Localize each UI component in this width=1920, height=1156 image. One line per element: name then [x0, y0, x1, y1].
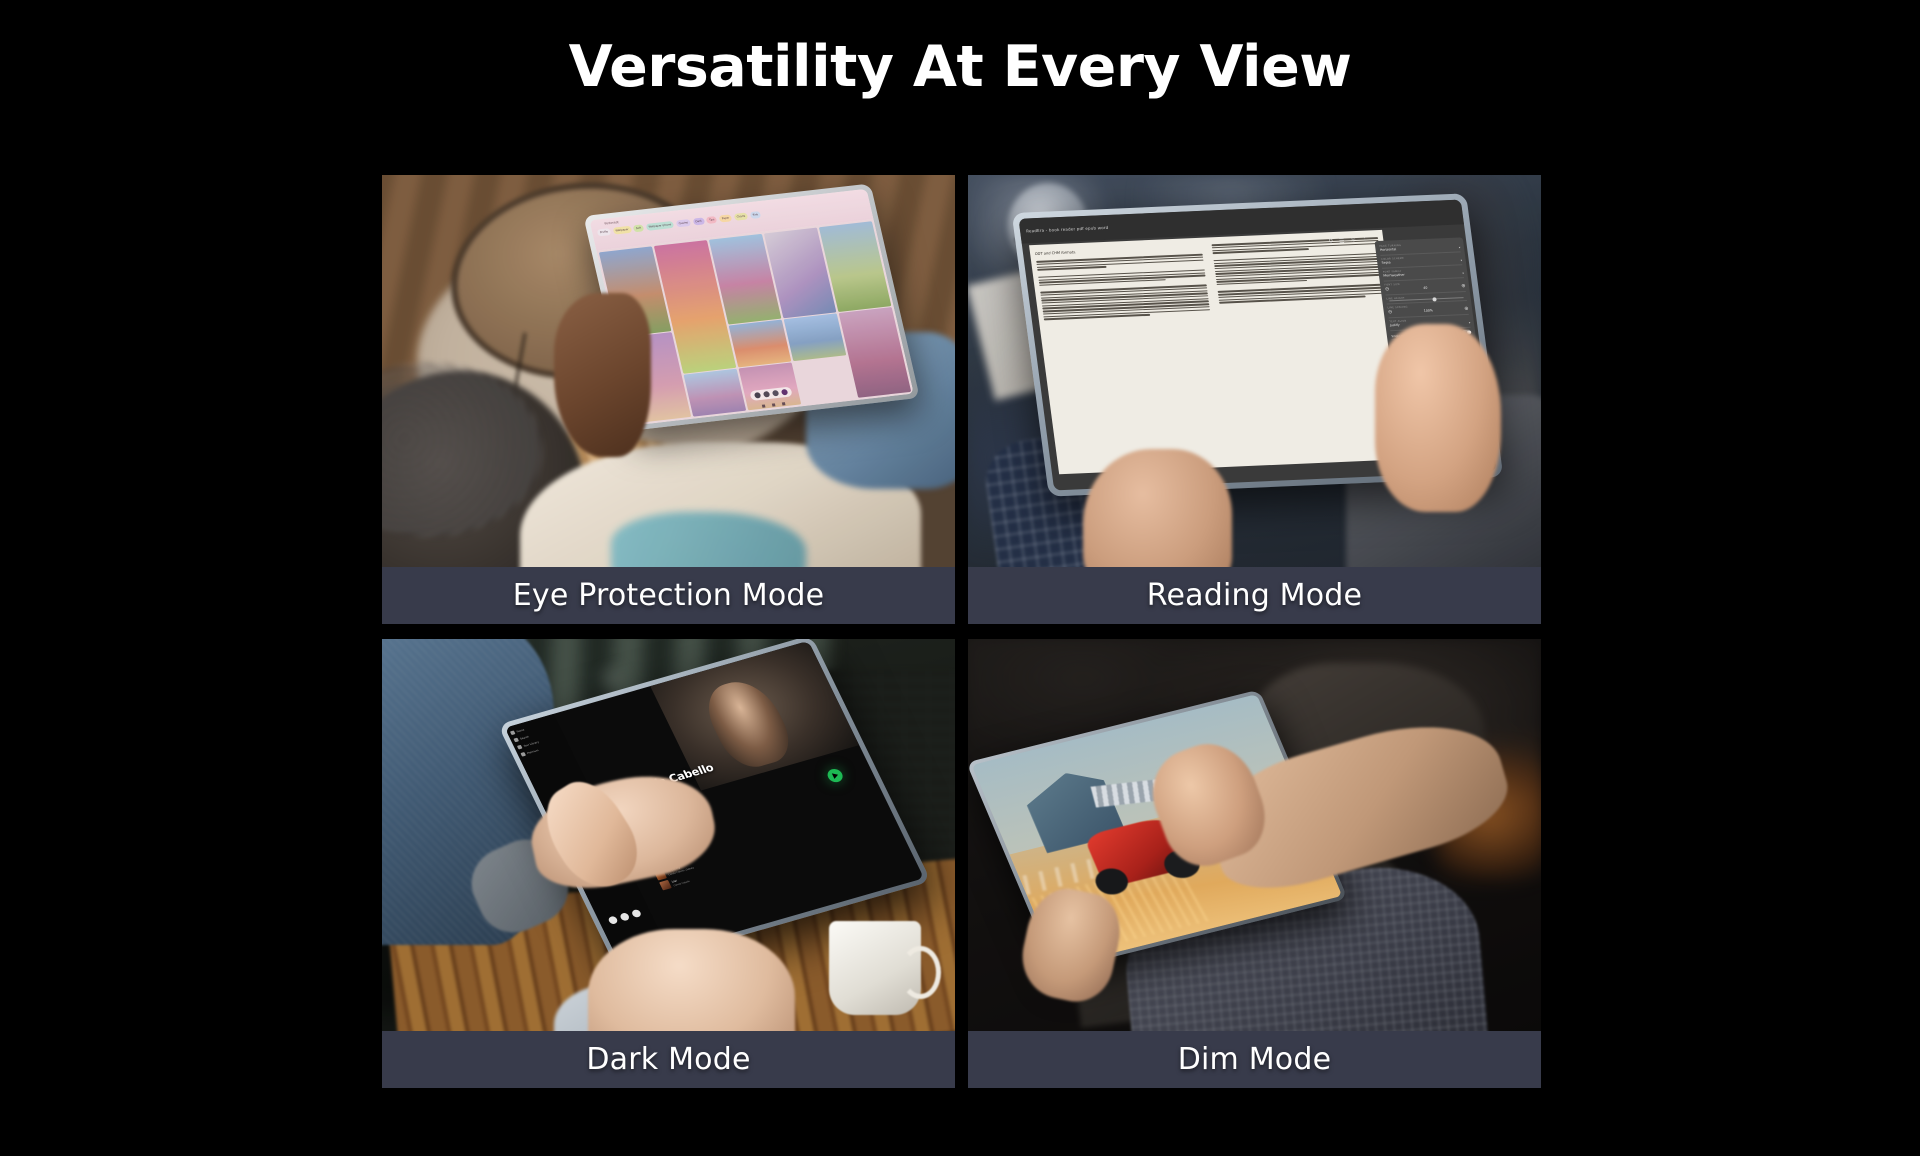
setting-value: 100%	[1424, 309, 1434, 313]
sidebar-label: Home	[516, 729, 525, 734]
chip-dark[interactable]: Dark	[693, 217, 706, 225]
more-icon[interactable]: ⋮	[1362, 238, 1369, 244]
photo-thumb[interactable]	[683, 369, 746, 417]
chip-tips[interactable]: Tips	[706, 216, 718, 224]
plus-icon[interactable]: ⊕	[1464, 307, 1469, 313]
caption-label: Eye Protection Mode	[513, 578, 825, 613]
paragraph	[1040, 285, 1210, 320]
coffee-mug	[829, 921, 921, 1015]
chip-wallpaper-iphone[interactable]: Wallpaper iphone	[646, 220, 675, 230]
paragraph	[1218, 284, 1386, 303]
chip-pink[interactable]: Pink	[750, 211, 762, 219]
caption-label: Reading Mode	[1147, 578, 1362, 613]
gallery-grid: Pinterest Profile Wallpaper Soft Wallpap…	[382, 175, 1541, 1088]
chip-wallpaper[interactable]: Wallpaper	[613, 225, 633, 234]
library-icon	[517, 745, 523, 750]
brightness-icon[interactable]: ☼	[1350, 239, 1356, 245]
paragraph	[1213, 253, 1383, 286]
setting-value: Justify	[1390, 324, 1400, 328]
scene-eye-protection: Pinterest Profile Wallpaper Soft Wallpap…	[382, 175, 955, 567]
sidebar-label: Premium	[526, 749, 539, 755]
setting-font-size[interactable]: FONT SIZE ⊖ 40 ⊕	[1384, 281, 1466, 296]
caption-bar-dim: Dim Mode	[968, 1031, 1541, 1088]
setting-color-scheme[interactable]: COLOR SCHEME Sepia ▾	[1381, 255, 1463, 269]
chip-quotes[interactable]: Quotes	[676, 219, 692, 227]
search-icon	[513, 738, 519, 743]
chevron-down-icon[interactable]: ▾	[1469, 321, 1471, 325]
setting-font-family[interactable]: FONT FAMILY Merriweather ▾	[1383, 268, 1465, 282]
back-icon[interactable]	[762, 404, 766, 407]
caption-bar-dark: Dark Mode	[382, 1031, 955, 1088]
photo-thumb[interactable]	[784, 313, 847, 361]
chip-charts[interactable]: Charts	[734, 212, 749, 220]
scene-reading: ReadEra - book reader pdf epub word ODT …	[968, 175, 1541, 567]
paragraph	[1036, 255, 1204, 272]
chip-soft[interactable]: Soft	[633, 224, 645, 232]
left-hand	[1083, 449, 1232, 567]
chevron-down-icon[interactable]: ▾	[1459, 246, 1461, 250]
caption-label: Dark Mode	[586, 1042, 750, 1077]
setting-line-spacing[interactable]: LINE SPACING ⊖ 100% ⊕	[1387, 304, 1469, 319]
caption-bar-eye-protection: Eye Protection Mode	[382, 567, 955, 624]
caption-label: Dim Mode	[1178, 1042, 1332, 1077]
caption-bar-reading: Reading Mode	[968, 567, 1541, 624]
book-column-left: ODT and CHM formats.	[1029, 238, 1236, 474]
home-icon[interactable]	[754, 392, 761, 399]
home-icon	[510, 731, 516, 736]
scene-dark: Home Search Your Library	[382, 639, 955, 1031]
setting-value: Horizontal	[1380, 248, 1397, 253]
album-art	[659, 881, 672, 892]
photo-thumb[interactable]	[839, 307, 912, 398]
photo-dim	[968, 639, 1541, 1031]
setting-value: Merriweather	[1383, 274, 1405, 279]
setting-value: Sepia	[1381, 261, 1390, 265]
messages-icon[interactable]	[772, 390, 779, 397]
book-page[interactable]: ODT and CHM formats.	[1029, 231, 1413, 475]
photo-dark: Home Search Your Library	[382, 639, 955, 1031]
list-icon[interactable]: ☰	[1339, 239, 1345, 245]
right-hand	[1375, 324, 1501, 512]
premium-icon	[520, 752, 526, 757]
photo-thumb[interactable]	[738, 362, 801, 410]
profile-icon[interactable]	[781, 389, 788, 396]
chevron-down-icon[interactable]: ▾	[1462, 271, 1464, 275]
setting-value: 40	[1423, 287, 1428, 291]
minus-icon[interactable]: ⊖	[1385, 287, 1390, 293]
photo-reading: ReadEra - book reader pdf epub word ODT …	[968, 175, 1541, 567]
gallery-card-dark[interactable]: Home Search Your Library	[382, 639, 955, 1088]
setting-page-turning[interactable]: PAGE TURNING Horizontal ▾	[1379, 242, 1461, 256]
paragraph	[1038, 270, 1206, 287]
search-icon[interactable]: ⚲	[1328, 240, 1333, 246]
scene-dim	[968, 639, 1541, 1031]
gallery-card-eye-protection[interactable]: Pinterest Profile Wallpaper Soft Wallpap…	[382, 175, 955, 624]
holding-hand	[554, 293, 651, 458]
chip-profile[interactable]: Profile	[597, 228, 612, 236]
gallery-card-reading[interactable]: ReadEra - book reader pdf epub word ODT …	[968, 175, 1541, 624]
sidebar-label: Your Library	[523, 741, 539, 748]
minus-icon[interactable]: ⊖	[1388, 310, 1393, 316]
plus-icon[interactable]: ⊕	[1461, 284, 1466, 290]
home-icon[interactable]	[772, 403, 776, 406]
page-title: Versatility At Every View	[0, 36, 1920, 99]
gallery-card-dim[interactable]: Dim Mode	[968, 639, 1541, 1088]
photo-eye-protection: Pinterest Profile Wallpaper Soft Wallpap…	[382, 175, 955, 567]
sidebar-label: Search	[519, 735, 529, 740]
chevron-down-icon[interactable]: ▾	[1460, 259, 1462, 263]
search-icon[interactable]	[763, 391, 770, 398]
chip-paper[interactable]: Paper	[719, 214, 733, 222]
photo-thumb[interactable]	[729, 319, 792, 367]
